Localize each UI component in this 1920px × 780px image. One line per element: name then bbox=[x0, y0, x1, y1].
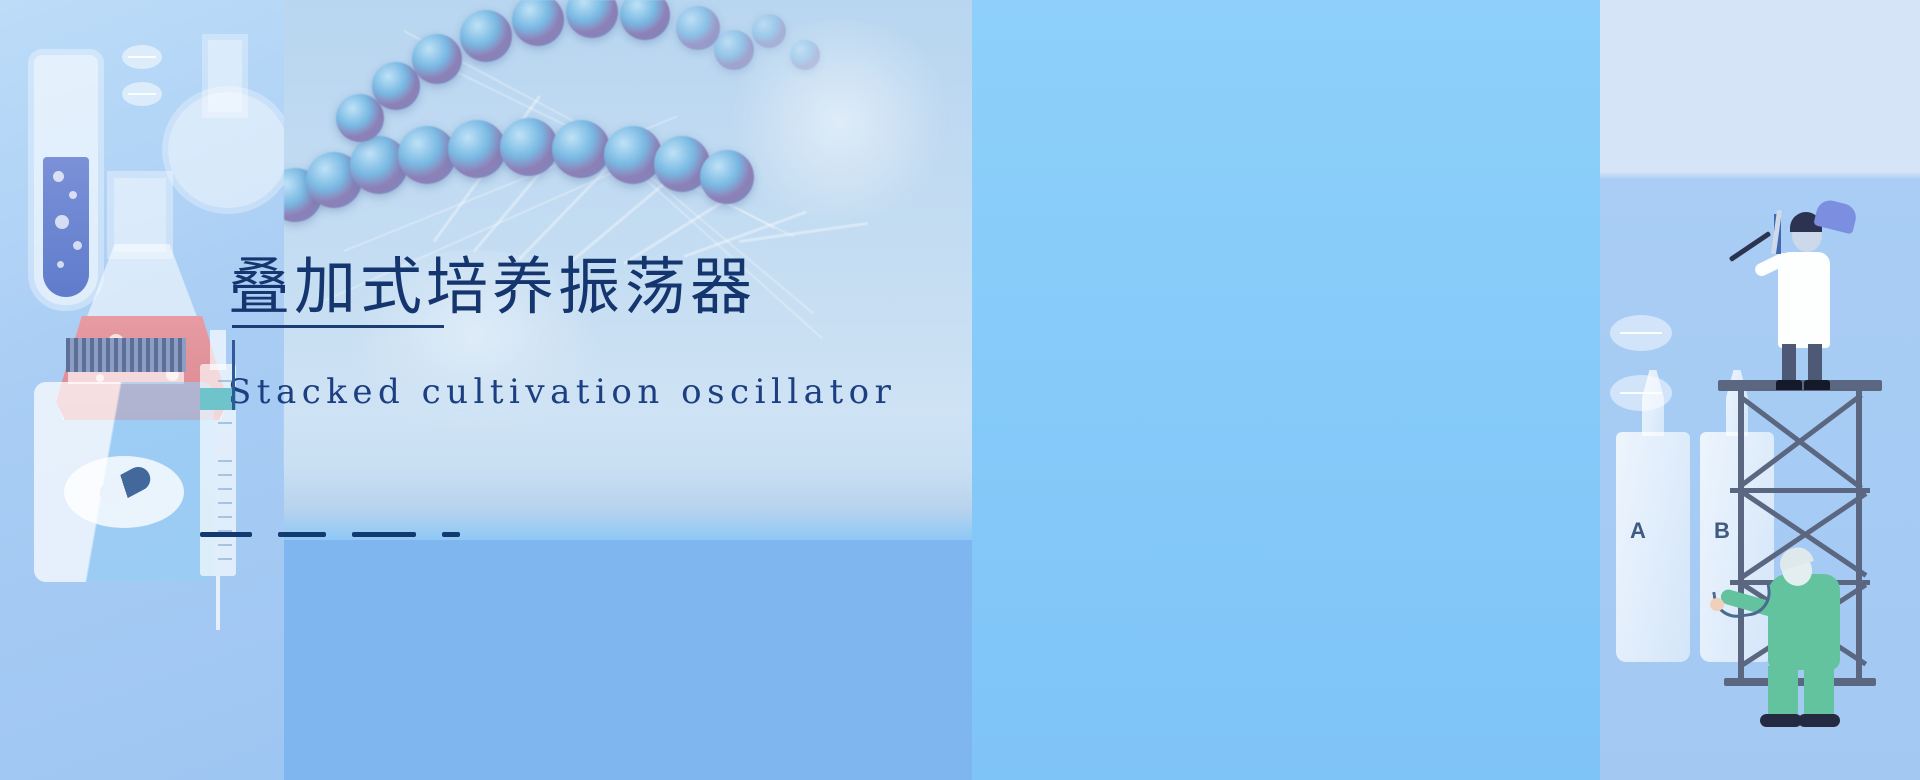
tablet-icon bbox=[122, 82, 162, 106]
tablet-icon bbox=[1610, 315, 1672, 351]
banner-subtitle-en: Stacked cultivation oscillator bbox=[228, 372, 896, 412]
scientist-green-coat bbox=[1738, 540, 1888, 740]
ampoule-label: A bbox=[1630, 518, 1646, 544]
title-stem-line bbox=[232, 340, 235, 410]
ampoule-label: B bbox=[1714, 518, 1730, 544]
pill-icon bbox=[96, 463, 155, 510]
product-banner: Taicang Hechuang TCW-6CB bbox=[0, 0, 1920, 780]
medicine-bottle-icon bbox=[34, 338, 214, 583]
banner-title-cn: 叠加式培养振荡器 bbox=[228, 252, 896, 321]
panel-product-background: Taicang Hechuang TCW-6CB bbox=[972, 0, 1600, 780]
banner-text-block: 叠加式培养振荡器 Stacked cultivation oscillator bbox=[228, 252, 896, 412]
title-underline bbox=[232, 325, 444, 328]
bottle-cap bbox=[66, 338, 186, 372]
tablet-icon bbox=[122, 45, 162, 69]
panel-scientists-illustration: A B bbox=[1600, 0, 1920, 780]
decor-dash bbox=[200, 532, 252, 537]
decor-dash-row bbox=[200, 532, 460, 537]
pointer-icon bbox=[1729, 231, 1772, 262]
decor-dash bbox=[278, 532, 326, 537]
decor-dash bbox=[442, 532, 460, 537]
bottle-label bbox=[64, 456, 184, 528]
ampoule-a: A bbox=[1616, 432, 1690, 662]
decor-dash bbox=[352, 532, 416, 537]
scientist-white-coat bbox=[1750, 200, 1870, 390]
